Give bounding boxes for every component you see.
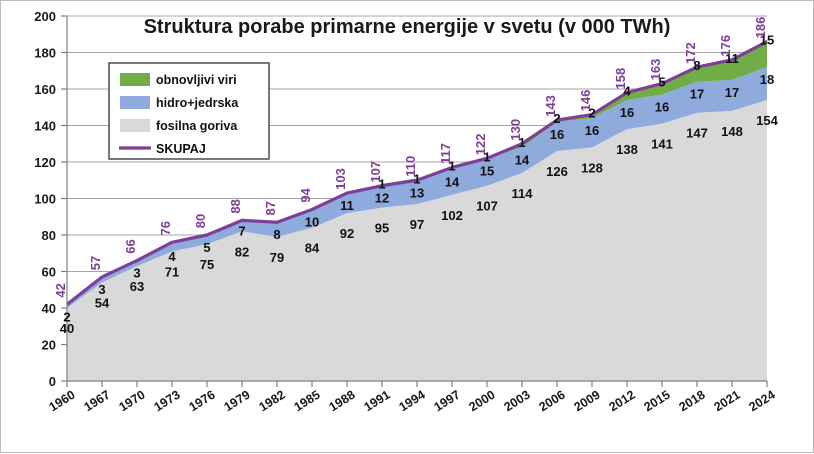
y-tick-label: 160 (34, 82, 56, 97)
y-tick-label: 60 (42, 265, 56, 280)
data-label: 11 (340, 198, 354, 213)
y-tick-label: 120 (34, 155, 56, 170)
chart-container: 020406080100120140160180200 196019671970… (0, 0, 814, 453)
chart-canvas: 020406080100120140160180200 196019671970… (1, 1, 814, 454)
y-axis-tick-labels: 020406080100120140160180200 (34, 9, 56, 389)
legend-swatch-icon (120, 73, 150, 86)
data-label: 14 (515, 152, 530, 167)
data-label: 3 (98, 282, 105, 297)
legend-item-label: fosilna goriva (156, 119, 238, 133)
data-label: 172 (683, 42, 698, 64)
data-label: 8 (273, 227, 280, 242)
data-label: 76 (158, 221, 173, 235)
data-label: 5 (203, 240, 210, 255)
data-label: 57 (88, 256, 103, 270)
x-tick-label: 1985 (292, 388, 323, 415)
data-label: 128 (581, 160, 603, 175)
data-label: 117 (438, 143, 453, 164)
x-tick-label: 2015 (642, 388, 673, 415)
x-tick-label: 1979 (222, 388, 253, 415)
data-label: 176 (718, 35, 733, 57)
data-label: 102 (441, 208, 463, 223)
data-label: 163 (648, 59, 663, 81)
data-label: 42 (53, 283, 68, 297)
x-tick-label: 2000 (467, 388, 498, 415)
x-tick-label: 2006 (537, 388, 568, 415)
data-label: 103 (333, 168, 348, 190)
data-label: 95 (375, 221, 389, 236)
data-label: 122 (473, 133, 488, 155)
data-label: 148 (721, 124, 743, 139)
x-tick-label: 1970 (117, 388, 148, 415)
data-label: 7 (238, 224, 245, 239)
x-tick-label: 1982 (257, 388, 288, 415)
data-label: 114 (512, 186, 534, 201)
x-tick-label: 1988 (327, 388, 358, 415)
data-label: 16 (655, 99, 669, 114)
data-label: 4 (168, 249, 176, 264)
x-tick-label: 2009 (572, 388, 603, 415)
chart-title: Struktura porabe primarne energije v sve… (144, 16, 671, 38)
legend-box: obnovljivi virihidro+jedrskafosilna gori… (109, 63, 269, 159)
data-label: 16 (585, 123, 599, 138)
data-label: 92 (340, 226, 354, 241)
data-label: 186 (753, 17, 768, 39)
y-tick-label: 200 (34, 9, 56, 24)
data-label: 141 (651, 137, 673, 152)
legend-swatch-icon (120, 119, 150, 132)
x-tick-label: 1973 (152, 388, 183, 415)
data-label: 97 (410, 217, 424, 232)
legend-item-label: obnovljivi viri (156, 73, 237, 87)
data-label: 16 (550, 127, 564, 142)
data-label: 110 (403, 156, 418, 177)
legend-item-2[interactable]: fosilna goriva (120, 119, 238, 133)
x-tick-label: 1991 (362, 388, 393, 415)
data-label: 75 (200, 257, 214, 272)
y-tick-label: 180 (34, 46, 56, 61)
y-tick-label: 100 (34, 192, 56, 207)
data-label: 17 (690, 87, 704, 102)
y-tick-label: 0 (49, 374, 56, 389)
x-axis-tick-labels: 1960196719701973197619791982198519881991… (47, 388, 778, 415)
data-label: 130 (508, 119, 523, 141)
data-label: 80 (193, 214, 208, 228)
data-label: 16 (620, 105, 634, 120)
data-label: 17 (725, 85, 739, 100)
x-tick-label: 1967 (82, 388, 113, 415)
data-label: 154 (756, 113, 778, 128)
x-tick-label: 1994 (397, 388, 428, 415)
data-label: 12 (375, 191, 389, 206)
data-label: 18 (760, 72, 774, 87)
data-label: 158 (613, 68, 628, 90)
data-label: 143 (543, 95, 558, 117)
legend-item-label: hidro+jedrska (156, 96, 239, 110)
data-label: 3 (133, 266, 140, 281)
data-label: 126 (546, 164, 568, 179)
x-tick-label: 1997 (432, 388, 463, 415)
data-label: 107 (368, 161, 383, 183)
data-label: 66 (123, 239, 138, 253)
x-tick-label: 1976 (187, 388, 218, 415)
data-label: 14 (445, 174, 460, 189)
data-label: 13 (410, 185, 424, 200)
data-label: 147 (686, 126, 708, 141)
data-label: 146 (578, 90, 593, 112)
data-label: 71 (165, 264, 179, 279)
x-tick-label: 2012 (607, 388, 638, 415)
data-label: 10 (305, 214, 319, 229)
data-label: 94 (298, 187, 313, 202)
data-label: 63 (130, 279, 144, 294)
x-tick-label: 2003 (502, 388, 533, 415)
x-tick-label: 2018 (677, 388, 708, 415)
x-tick-label: 1960 (47, 388, 78, 415)
y-tick-label: 140 (34, 119, 56, 134)
x-tick-label: 2021 (712, 388, 743, 415)
data-label: 88 (228, 199, 243, 213)
legend-item-1[interactable]: hidro+jedrska (120, 96, 239, 110)
data-label: 84 (305, 241, 320, 256)
data-label: 15 (480, 163, 494, 178)
data-label: 79 (270, 250, 284, 265)
legend-item-0[interactable]: obnovljivi viri (120, 73, 237, 87)
x-tick-label: 2024 (747, 388, 778, 415)
y-tick-label: 20 (42, 338, 56, 353)
data-label: 82 (235, 244, 249, 259)
data-label: 87 (263, 201, 278, 215)
data-label: 138 (616, 142, 638, 157)
y-tick-label: 40 (42, 301, 56, 316)
data-label: 54 (95, 295, 110, 310)
data-label: 107 (476, 199, 498, 214)
data-label: 2 (63, 309, 70, 324)
legend-swatch-icon (120, 96, 150, 109)
y-tick-label: 80 (42, 228, 56, 243)
legend-item-label: SKUPAJ (156, 142, 206, 156)
